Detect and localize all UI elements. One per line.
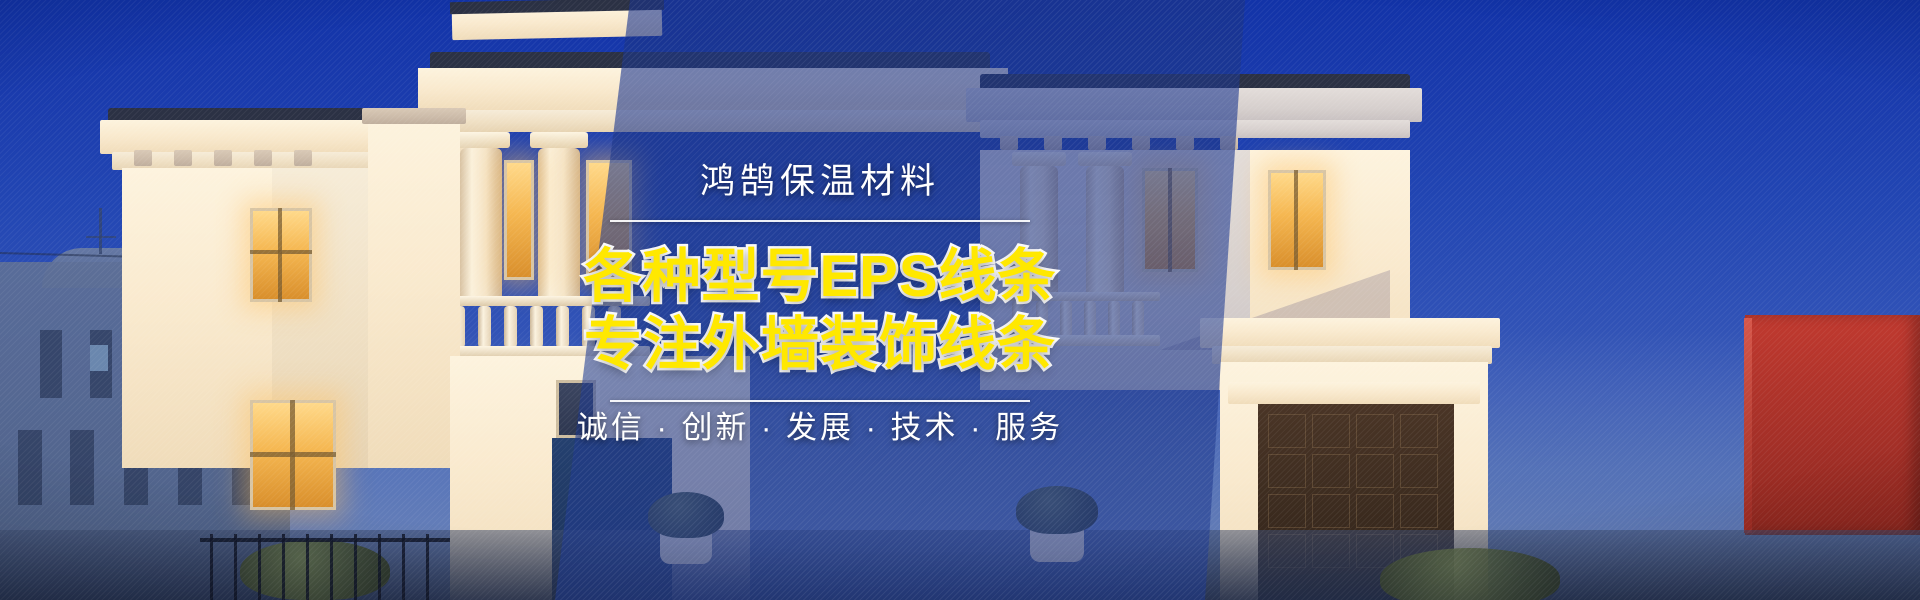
tagline: 诚信 · 创新 · 发展 · 技术 · 服务	[577, 402, 1063, 447]
headline-line-1: 各种型号EPS线条	[583, 244, 1056, 310]
iron-fence	[200, 520, 520, 600]
divider-rule-top	[610, 220, 1030, 222]
shrub-foreground-right	[1380, 548, 1560, 600]
headline-line-2: 专注外墙装饰线条	[584, 312, 1056, 378]
brand-name: 鸿鹄保温材料	[700, 153, 940, 204]
red-container	[1745, 315, 1920, 535]
red-container-edge	[1744, 318, 1752, 533]
banner-content: 鸿鹄保温材料 各种型号EPS线条 专注外墙装饰线条 诚信 · 创新 · 发展 ·…	[560, 0, 1080, 600]
promo-banner: 鸿鹄保温材料 各种型号EPS线条 专注外墙装饰线条 诚信 · 创新 · 发展 ·…	[0, 0, 1920, 600]
headline-group: 各种型号EPS线条 专注外墙装饰线条	[583, 244, 1056, 378]
